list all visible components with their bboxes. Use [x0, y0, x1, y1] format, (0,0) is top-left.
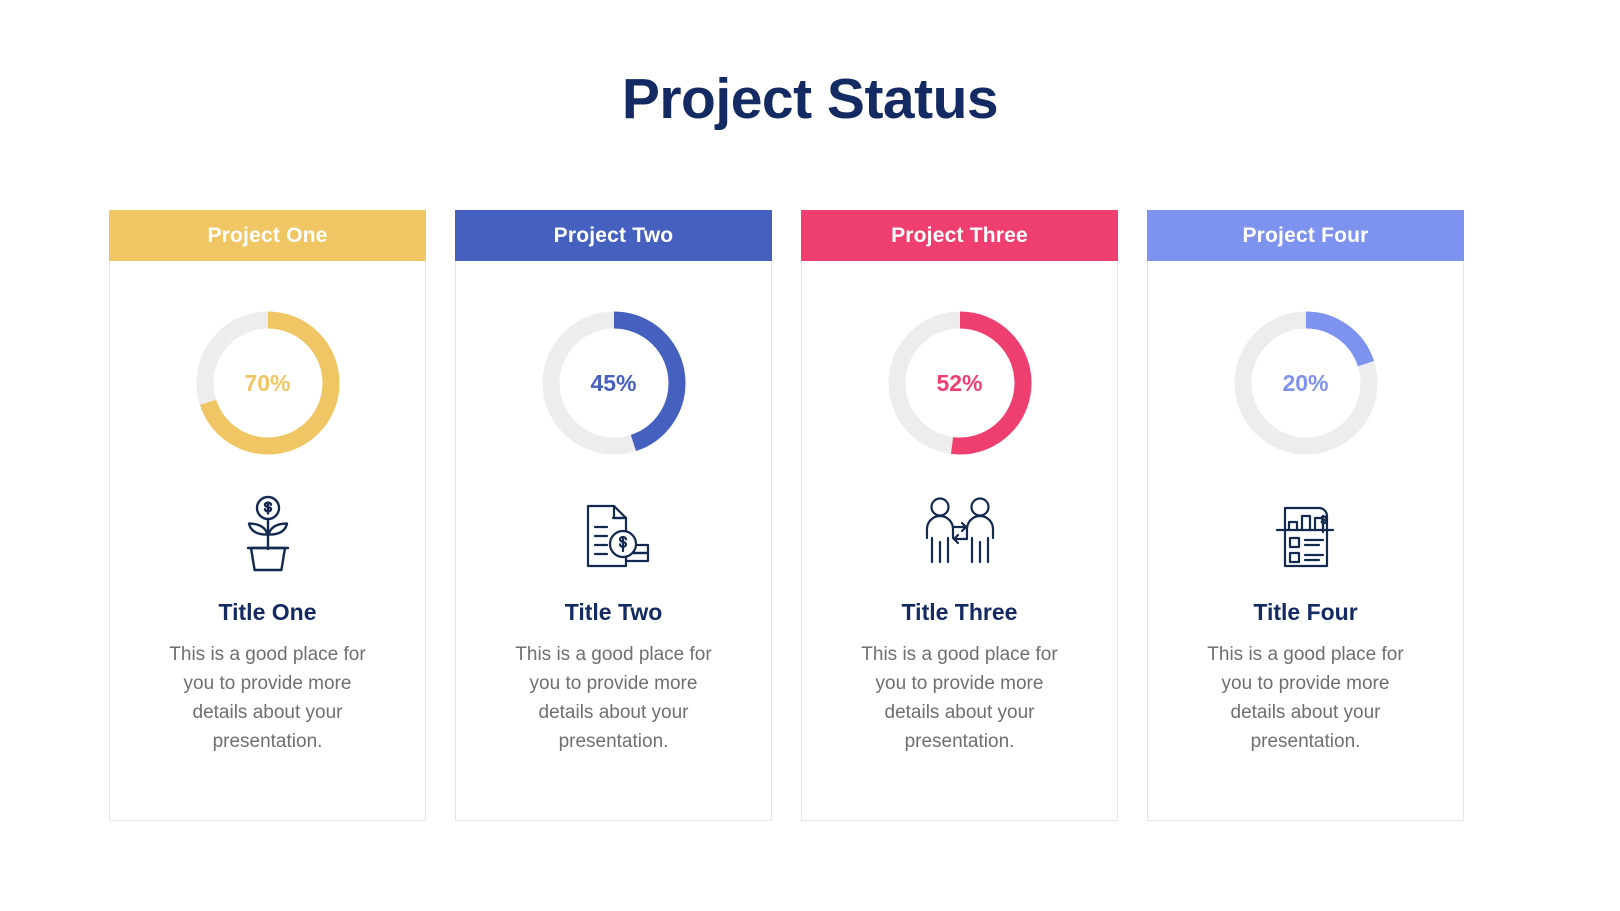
card-body-text: This is a good place for you to provide … — [854, 640, 1066, 756]
project-card-header-label: Project Two — [554, 224, 674, 248]
page-title: Project Status — [0, 66, 1620, 132]
card-title: Title Three — [902, 599, 1018, 626]
card-body-text: This is a good place for you to provide … — [162, 640, 374, 756]
progress-donut-chart: 20% — [1226, 303, 1386, 463]
people-exchange-icon — [923, 491, 997, 575]
project-card-row: Project One 70% — [109, 210, 1511, 821]
financial-report-icon — [1271, 491, 1341, 575]
project-card-header: Project Three — [801, 210, 1118, 261]
project-card-header-label: Project Four — [1242, 224, 1368, 248]
project-card-header: Project Two — [455, 210, 772, 261]
project-card[interactable]: Project One 70% — [109, 210, 426, 821]
people-exchange-glyph — [923, 496, 997, 570]
card-title: Title Four — [1253, 599, 1357, 626]
progress-percent-label: 70% — [188, 303, 348, 463]
invoice-money-icon — [576, 491, 652, 575]
progress-donut-chart: 45% — [534, 303, 694, 463]
slide-canvas: Project Status Project One 70% — [0, 0, 1620, 911]
card-title: Title One — [219, 599, 317, 626]
progress-donut-chart: 52% — [880, 303, 1040, 463]
card-body-text: This is a good place for you to provide … — [1200, 640, 1412, 756]
project-card[interactable]: Project Four 20% — [1147, 210, 1464, 821]
project-card-header-label: Project One — [207, 224, 327, 248]
project-card[interactable]: Project Three 52% — [801, 210, 1118, 821]
project-card-header: Project One — [109, 210, 426, 261]
progress-percent-label: 45% — [534, 303, 694, 463]
progress-percent-label: 20% — [1226, 303, 1386, 463]
money-plant-icon — [237, 491, 299, 575]
project-card-header: Project Four — [1147, 210, 1464, 261]
card-title: Title Two — [565, 599, 663, 626]
progress-percent-label: 52% — [880, 303, 1040, 463]
financial-report-glyph — [1271, 496, 1341, 570]
project-card[interactable]: Project Two 45% — [455, 210, 772, 821]
card-body-text: This is a good place for you to provide … — [508, 640, 720, 756]
money-plant-glyph — [237, 494, 299, 572]
progress-donut-chart: 70% — [188, 303, 348, 463]
project-card-header-label: Project Three — [891, 224, 1028, 248]
invoice-money-glyph — [576, 496, 652, 570]
